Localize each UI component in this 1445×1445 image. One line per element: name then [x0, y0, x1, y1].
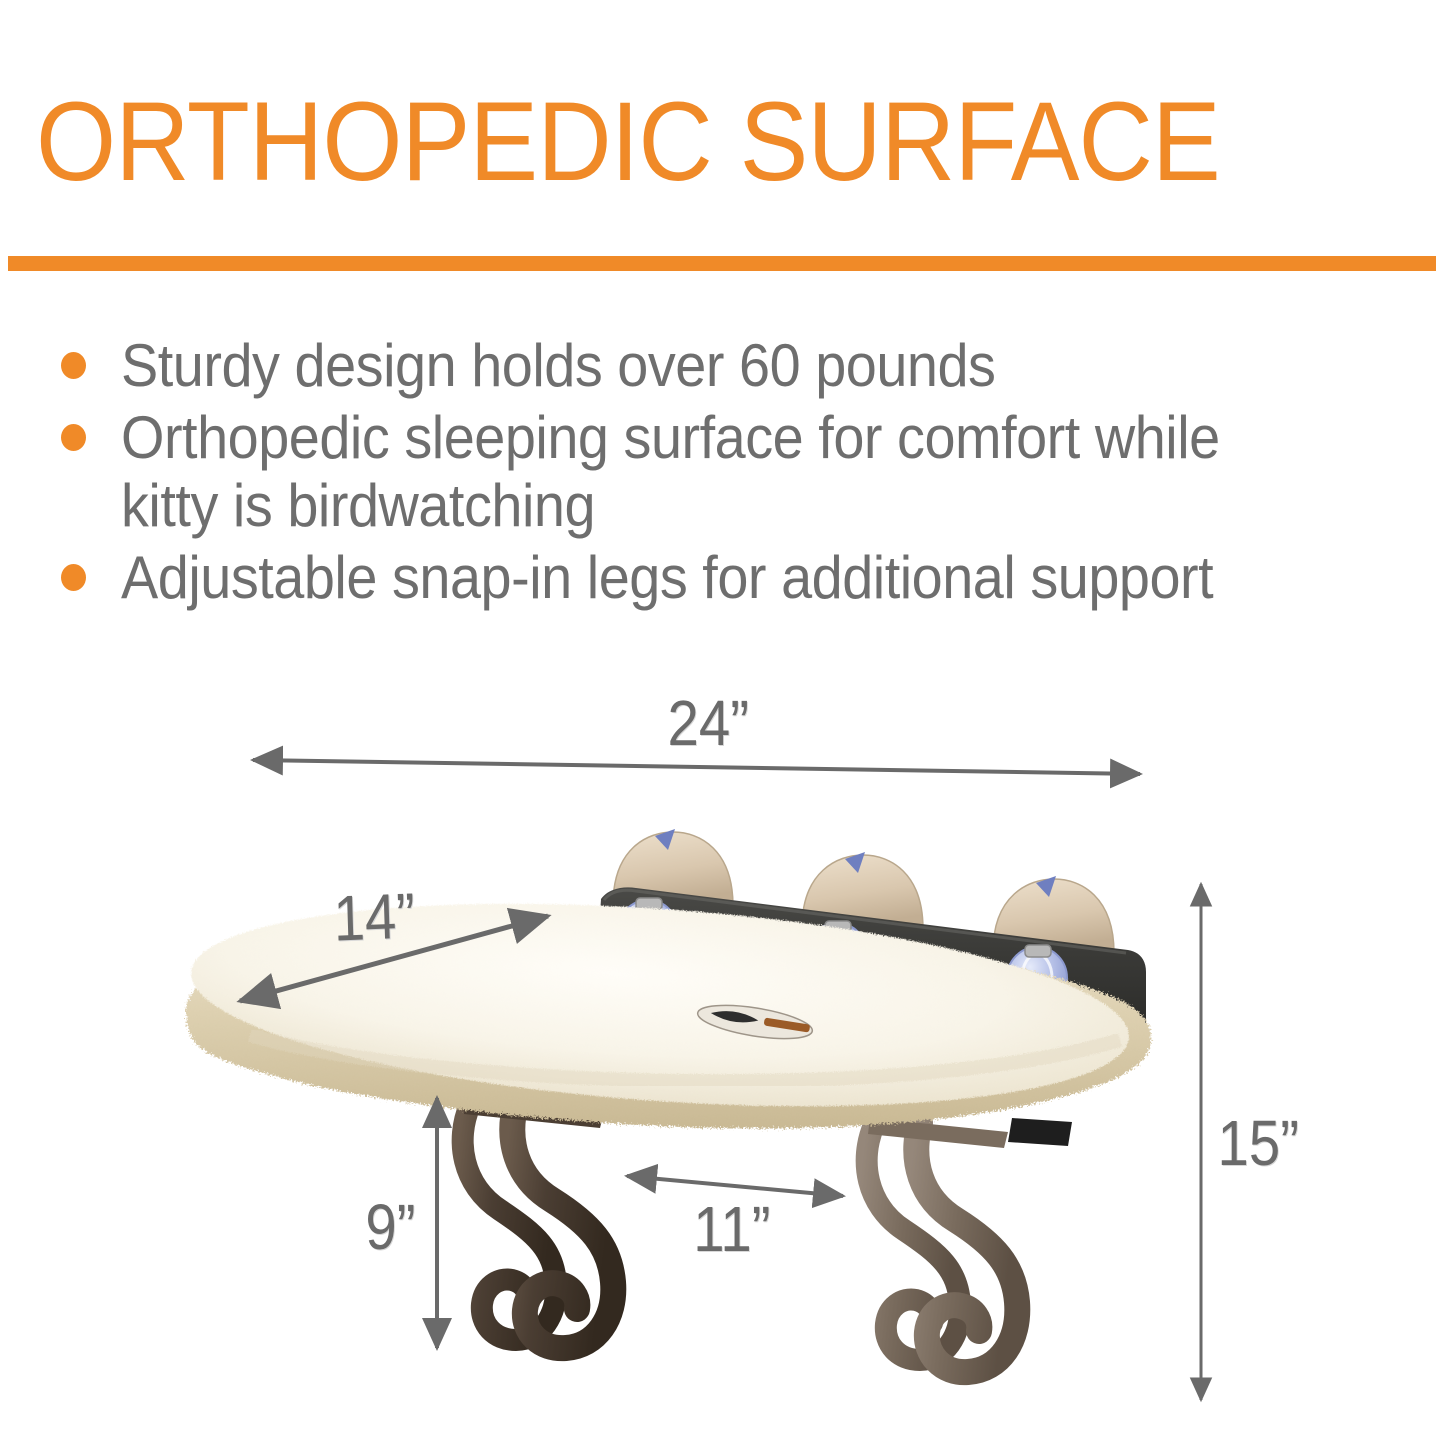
feature-text: Sturdy design holds over 60 pounds — [121, 332, 1287, 400]
suction-disc — [993, 879, 1114, 953]
cup-clip-icon — [825, 921, 851, 933]
disc-tab-icon — [1036, 876, 1056, 897]
leg-scroll-inner — [512, 1103, 613, 1348]
suction-disc — [802, 855, 923, 929]
support-leg-left — [463, 1098, 614, 1348]
suction-cup — [618, 898, 678, 962]
brand-mark-icon — [710, 1008, 759, 1025]
pad-shading — [250, 1035, 1120, 1081]
bracket-notch — [688, 947, 695, 963]
pad-rim — [186, 920, 1151, 1129]
dimension-label-depth: 14” — [332, 878, 416, 955]
leg-scroll-outer — [463, 1105, 556, 1340]
bullet-dot-icon — [61, 424, 86, 451]
page-title: ORTHOPEDIC SURFACE — [36, 86, 1306, 198]
bullet-dot-icon — [61, 564, 86, 591]
dimension-label-leg-spacing: 11” — [693, 1192, 770, 1266]
dimension-label-width: 24” — [668, 686, 749, 760]
suction-cup — [1007, 945, 1067, 1009]
fleece-pad — [184, 876, 1151, 1133]
dimension-arrow-width — [253, 760, 1140, 774]
suction-cup-group — [618, 898, 1067, 1009]
disc-tab-icon — [845, 852, 865, 873]
brand-tag-plate — [696, 999, 815, 1045]
suction-disc — [613, 832, 733, 906]
product-diagram: 24” 14” 15” 9” 11” — [0, 0, 1445, 1445]
mounting-bracket — [598, 887, 1146, 1034]
bracket-notch — [1010, 989, 1017, 1005]
list-item: Adjustable snap-in legs for additional s… — [55, 544, 1375, 612]
feature-list: Sturdy design holds over 60 pounds Ortho… — [55, 332, 1375, 616]
cup-clip-icon — [636, 898, 662, 910]
leg-top-plate — [868, 1118, 1008, 1148]
dimension-arrow-leg-spacing — [627, 1176, 843, 1196]
leg-scroll-inner — [916, 1123, 1017, 1372]
feature-text: Orthopedic sleeping surface for comfort … — [121, 404, 1287, 540]
brand-tag — [696, 999, 815, 1045]
infographic-page: ORTHOPEDIC SURFACE Sturdy design holds o… — [0, 0, 1445, 1445]
bracket-plate — [598, 887, 1146, 1034]
suction-disc-group — [613, 829, 1114, 953]
title-divider-rule — [8, 256, 1436, 271]
bracket-highlight — [604, 890, 1126, 953]
pad-top-surface — [184, 876, 1135, 1133]
bracket-notch — [930, 978, 937, 994]
list-item: Sturdy design holds over 60 pounds — [55, 332, 1375, 400]
cup-clip-icon — [1025, 945, 1051, 957]
suction-cup — [807, 921, 867, 985]
care-label-tag — [1008, 1118, 1072, 1146]
bracket-notch — [770, 958, 777, 974]
leg-top-plate — [464, 1098, 604, 1128]
product-illustration — [0, 0, 1445, 1445]
disc-tab-icon — [655, 829, 675, 850]
feature-text: Adjustable snap-in legs for additional s… — [121, 544, 1287, 612]
list-item: Orthopedic sleeping surface for comfort … — [55, 404, 1375, 540]
bullet-dot-icon — [61, 352, 86, 379]
support-leg-right — [867, 1118, 1018, 1372]
dimension-label-total-height: 15” — [1218, 1106, 1299, 1180]
leg-scroll-outer — [867, 1125, 960, 1360]
dimension-arrow-depth — [240, 916, 548, 1001]
dimension-label-leg-height: 9” — [365, 1190, 415, 1264]
dimension-arrows — [240, 760, 1201, 1400]
brand-wordmark-icon — [764, 1017, 811, 1032]
